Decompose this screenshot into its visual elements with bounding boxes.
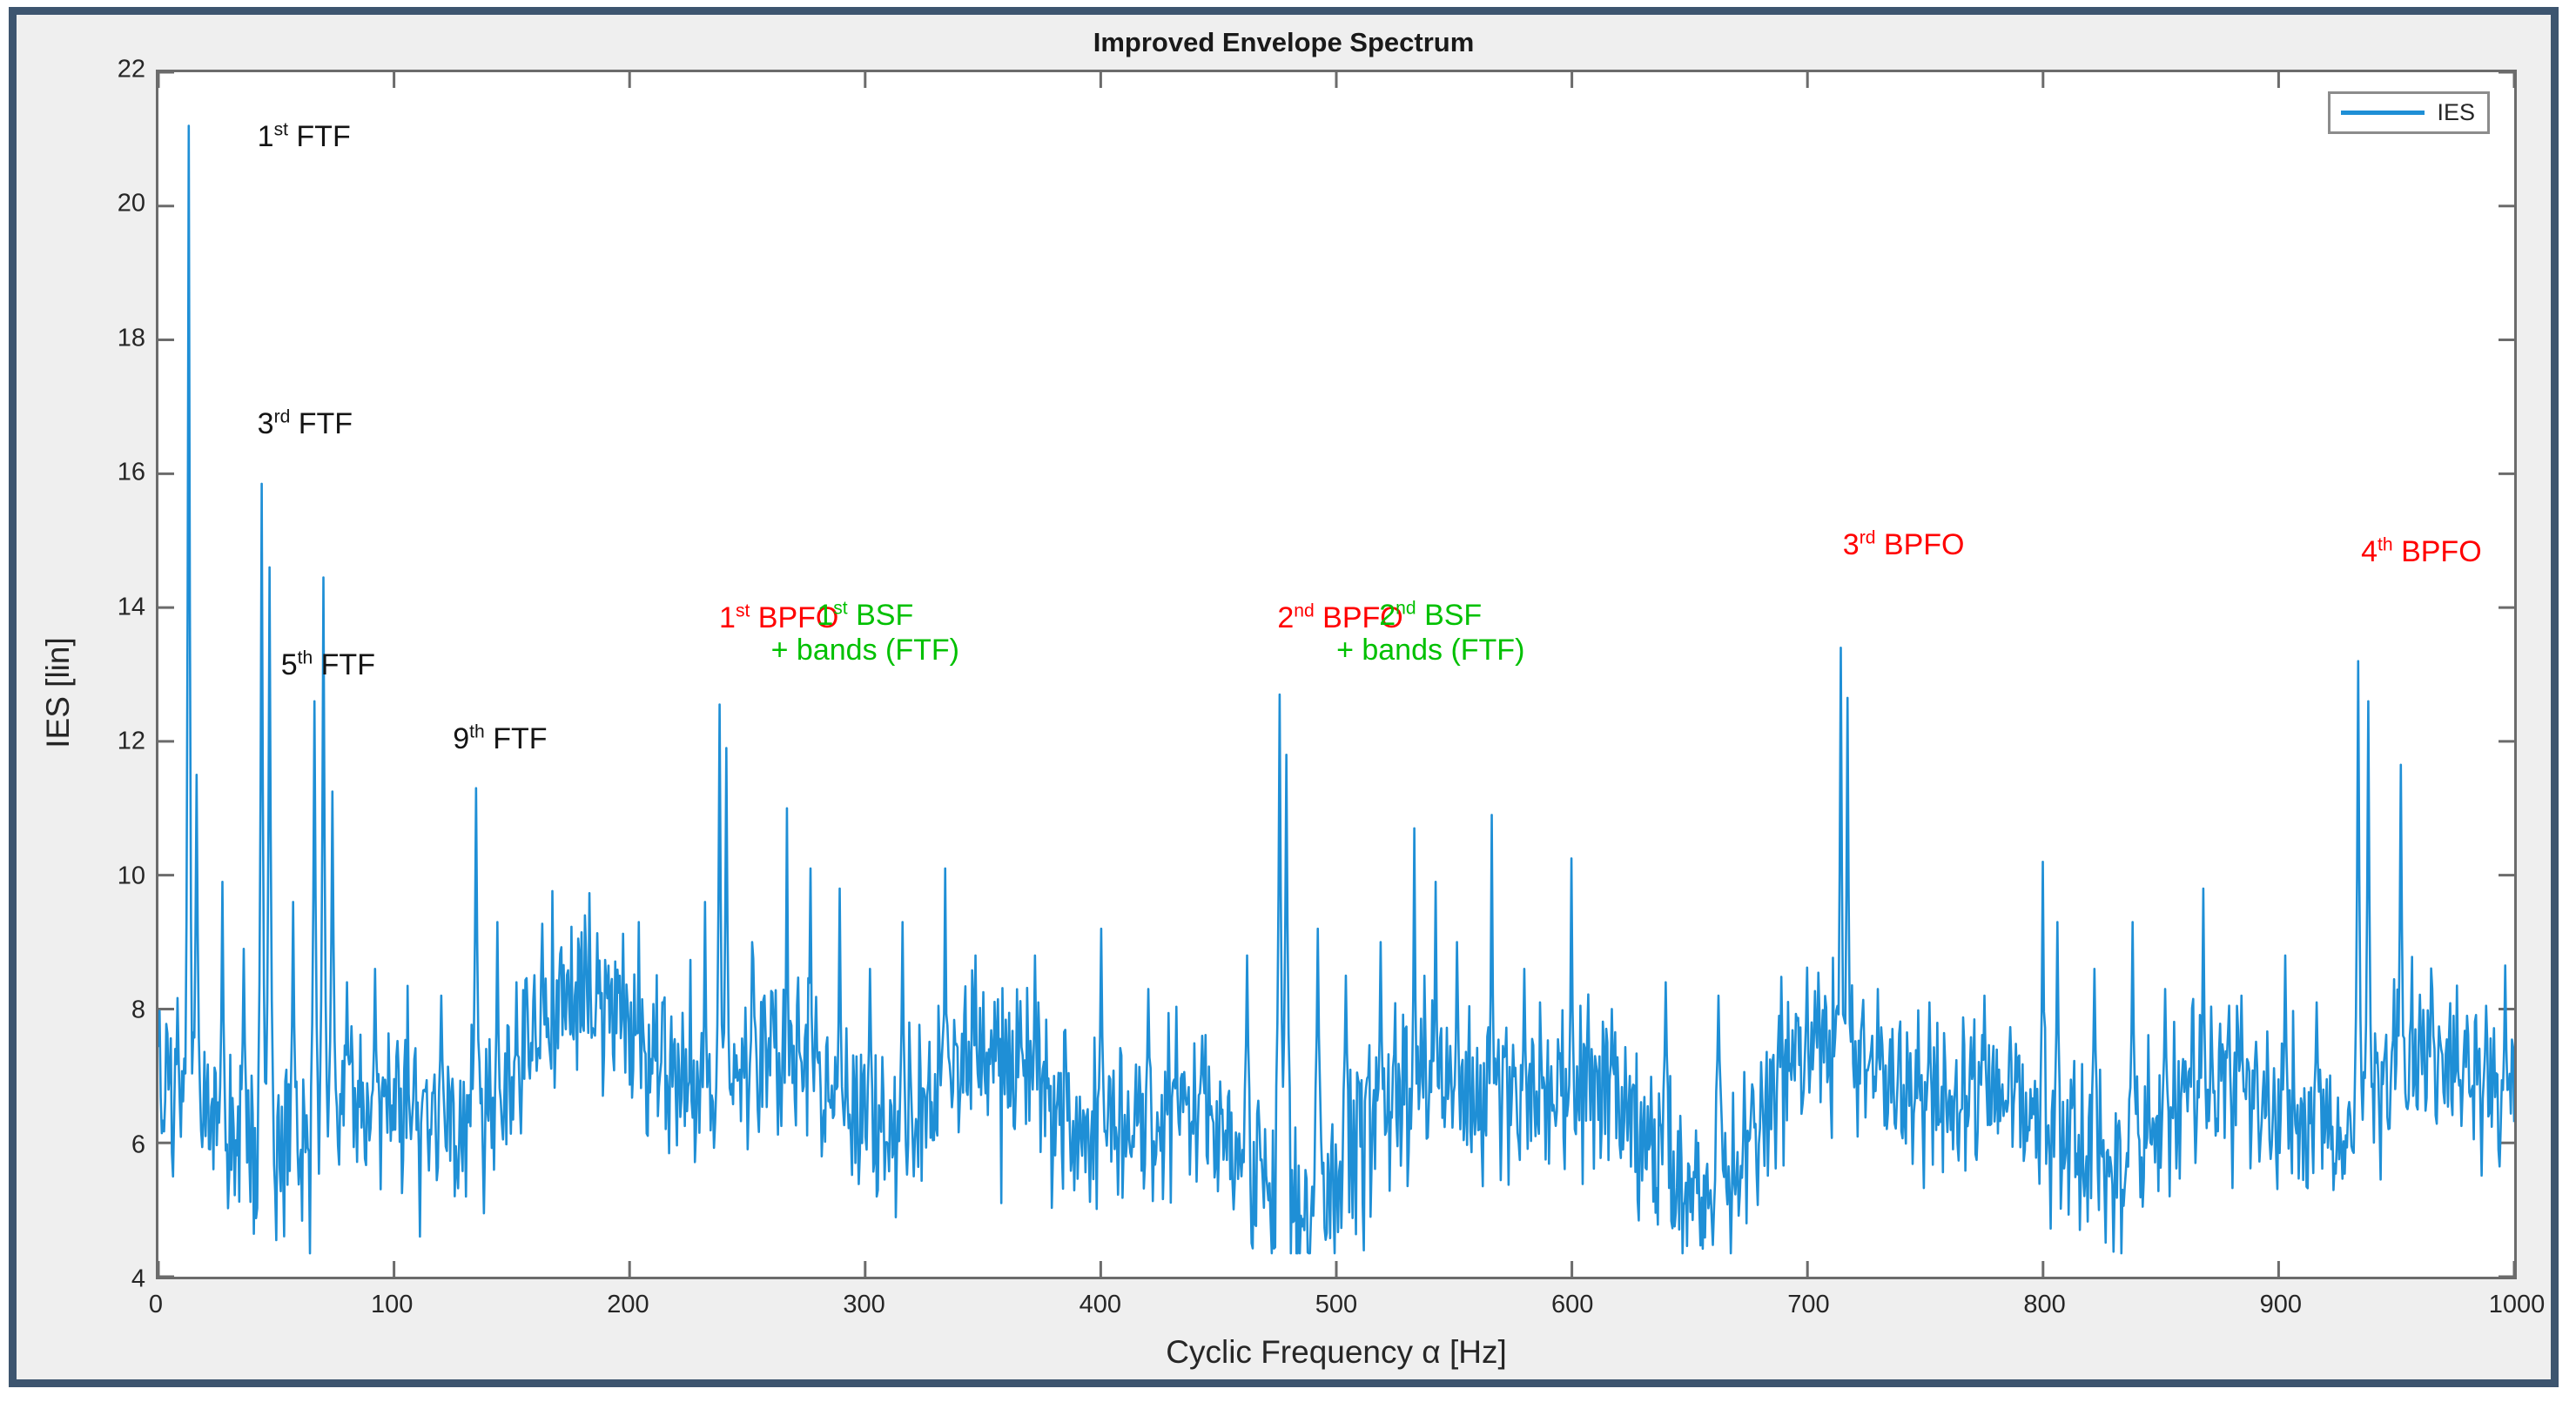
x-tick-label: 500 bbox=[1275, 1291, 1397, 1319]
y-tick-label: 6 bbox=[91, 1130, 145, 1159]
page-title: Improved Envelope Spectrum bbox=[17, 27, 2551, 58]
screenshot-root: Improved Envelope Spectrum IES 1st FTF3r… bbox=[0, 0, 2576, 1402]
figure-frame: Improved Envelope Spectrum IES 1st FTF3r… bbox=[9, 7, 2559, 1387]
x-axis-tick-labels: 01002003004005006007008009001000 bbox=[156, 1291, 2517, 1325]
legend[interactable]: IES bbox=[2328, 91, 2490, 134]
x-tick-label: 600 bbox=[1511, 1291, 1633, 1319]
y-tick-label: 16 bbox=[91, 459, 145, 487]
y-tick-label: 8 bbox=[91, 996, 145, 1025]
plot-area: IES 1st FTF3rd FTF5th FTF9th FTF1st BPFO… bbox=[156, 70, 2517, 1279]
ies-spectrum-line bbox=[158, 126, 2514, 1254]
x-tick-label: 100 bbox=[331, 1291, 453, 1319]
y-tick-label: 14 bbox=[91, 593, 145, 621]
y-axis-title: IES [lin] bbox=[40, 519, 77, 867]
y-tick-label: 22 bbox=[91, 56, 145, 84]
y-tick-label: 18 bbox=[91, 324, 145, 352]
legend-line-swatch bbox=[2341, 111, 2425, 115]
y-tick-label: 20 bbox=[91, 190, 145, 218]
x-tick-label: 1000 bbox=[2456, 1291, 2576, 1319]
x-tick-label: 700 bbox=[1747, 1291, 1869, 1319]
y-tick-label: 10 bbox=[91, 862, 145, 890]
y-tick-label: 4 bbox=[91, 1265, 145, 1294]
x-tick-label: 400 bbox=[1039, 1291, 1161, 1319]
x-tick-label: 900 bbox=[2220, 1291, 2342, 1319]
x-axis-title: Cyclic Frequency α [Hz] bbox=[156, 1334, 2517, 1371]
y-tick-label: 12 bbox=[91, 728, 145, 756]
y-axis-tick-labels: 46810121416182022 bbox=[84, 70, 145, 1279]
x-tick-label: 800 bbox=[1984, 1291, 2106, 1319]
x-tick-label: 300 bbox=[804, 1291, 925, 1319]
x-tick-label: 200 bbox=[567, 1291, 689, 1319]
legend-label: IES bbox=[2437, 99, 2475, 126]
spectrum-plot-svg bbox=[158, 72, 2514, 1277]
x-tick-label: 0 bbox=[95, 1291, 217, 1319]
